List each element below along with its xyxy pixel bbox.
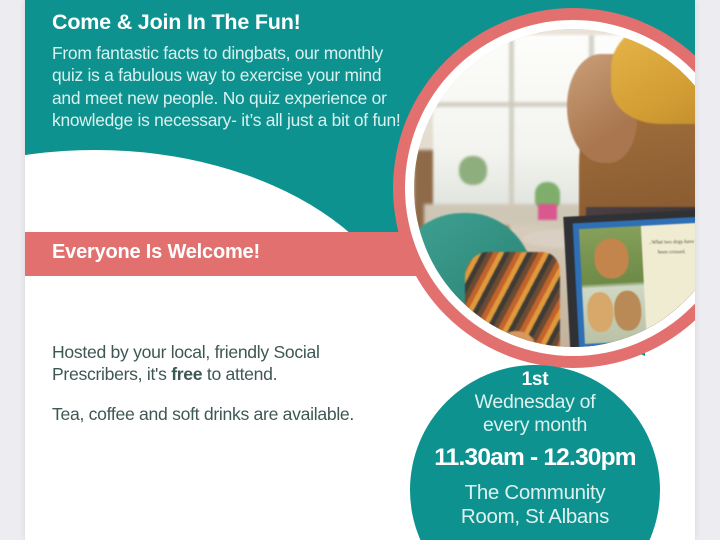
detail-venue-line2: Room, St Albans (410, 505, 660, 529)
body-paragraph-hosted: Hosted by your local, friendly Social Pr… (52, 341, 362, 386)
detail-frequency: every month (410, 414, 660, 436)
event-details-circle: 1st Wednesday of every month 11.30am - 1… (410, 365, 660, 540)
photo-dog-image (613, 291, 642, 332)
detail-ordinal: 1st (410, 369, 660, 391)
photo-slide-question-text: ..What two dogs have been crossed. (642, 224, 695, 341)
paragraph-spacer (52, 386, 362, 403)
welcome-banner-label: Everyone Is Welcome! (52, 241, 260, 264)
detail-day: Wednesday of (410, 391, 660, 413)
detail-time: 11.30am - 12.30pm (410, 445, 660, 472)
photo-quiz-slide: ..What two dogs have been crossed. (579, 223, 695, 345)
photo-dog-image (586, 292, 614, 333)
photo-slide-images (579, 226, 647, 345)
photo-tablet-screen: ..What two dogs have been crossed. (572, 217, 695, 347)
photo-window-mullion (509, 35, 514, 213)
hosted-text-after: to attend. (202, 364, 277, 384)
photo-coral-ring: ..What two dogs have been crossed. (393, 8, 695, 368)
photo-plant (459, 156, 488, 185)
photo-dog-image (593, 238, 629, 279)
photo-yellow-beanie (611, 29, 695, 124)
body-paragraph-refreshments: Tea, coffee and soft drinks are availabl… (52, 403, 362, 425)
photo-tablet: ..What two dogs have been crossed. (563, 210, 695, 347)
quiz-photo: ..What two dogs have been crossed. (414, 29, 695, 347)
screenshot-canvas: Come & Join In The Fun! From fantastic f… (0, 0, 720, 540)
intro-paragraph: From fantastic facts to dingbats, our mo… (52, 42, 412, 132)
detail-venue-line1: The Community (410, 481, 660, 505)
photo-plant-pot (538, 204, 557, 220)
page-title: Come & Join In The Fun! (52, 10, 432, 36)
photo-white-ring: ..What two dogs have been crossed. (405, 20, 695, 356)
free-emphasis: free (171, 364, 202, 384)
body-copy: Hosted by your local, friendly Social Pr… (52, 341, 362, 425)
event-poster: Come & Join In The Fun! From fantastic f… (25, 0, 695, 540)
